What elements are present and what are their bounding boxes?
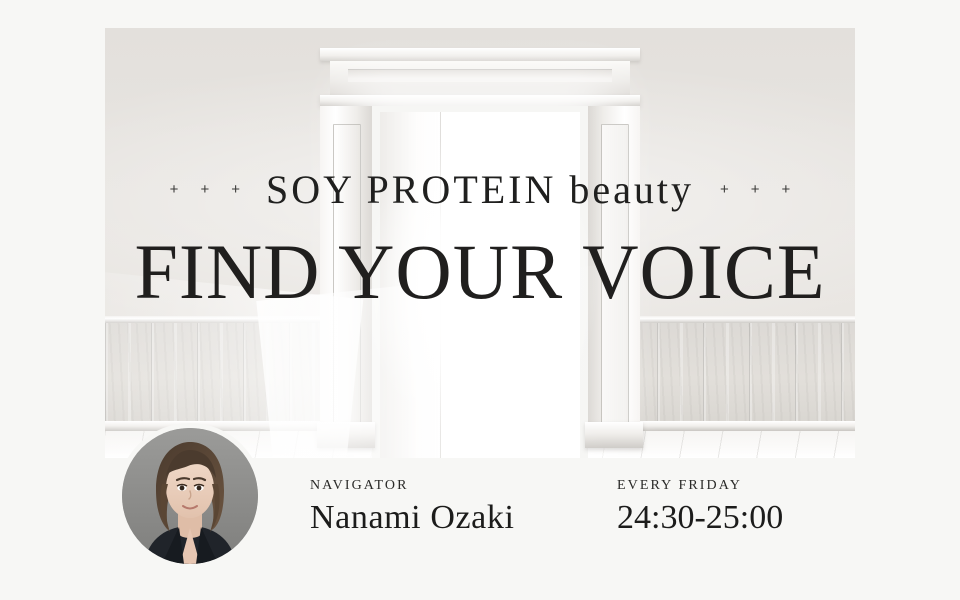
ornament-group-right: + + + bbox=[720, 182, 790, 197]
plus-icon: + bbox=[200, 182, 209, 197]
plus-icon: + bbox=[720, 182, 729, 197]
eyebrow-row: + + + SOY PROTEIN beauty + + + bbox=[0, 166, 960, 213]
navigator-block: NAVIGATOR Nanami Ozaki bbox=[310, 478, 515, 535]
page-root: + + + SOY PROTEIN beauty + + + FIND YOUR… bbox=[0, 0, 960, 600]
schedule-label: EVERY FRIDAY bbox=[617, 478, 783, 494]
plus-icon: + bbox=[751, 182, 760, 197]
ornament-group-left: + + + bbox=[170, 182, 240, 197]
page-title: FIND YOUR VOICE bbox=[0, 233, 960, 311]
portrait-avatar-icon bbox=[122, 428, 258, 564]
avatar bbox=[122, 428, 258, 564]
schedule-time: 24:30-25:00 bbox=[617, 501, 783, 535]
cornice-inset bbox=[348, 69, 612, 82]
plus-icon: + bbox=[231, 182, 240, 197]
navigator-label: NAVIGATOR bbox=[310, 478, 515, 494]
schedule-block: EVERY FRIDAY 24:30-25:00 bbox=[617, 478, 783, 535]
cornice-lower bbox=[320, 95, 640, 106]
plinth-left bbox=[317, 422, 375, 448]
plus-icon: + bbox=[170, 182, 179, 197]
brand-eyebrow: SOY PROTEIN beauty bbox=[266, 166, 694, 213]
plus-icon: + bbox=[782, 182, 791, 197]
navigator-name: Nanami Ozaki bbox=[310, 501, 515, 535]
plinth-right bbox=[585, 422, 643, 448]
cornice-top bbox=[320, 48, 640, 61]
